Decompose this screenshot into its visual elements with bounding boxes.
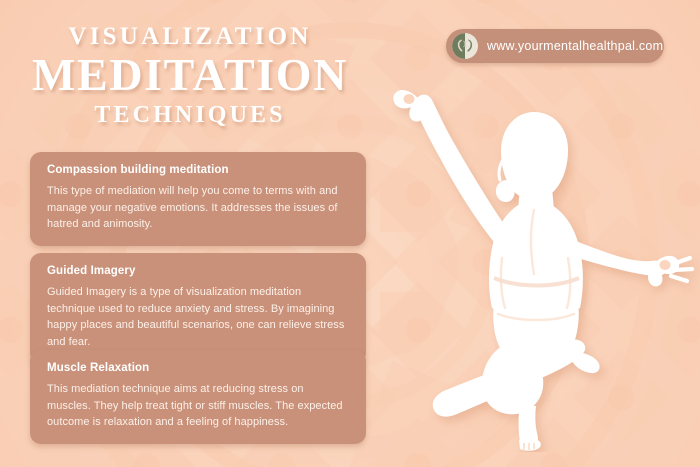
info-card-body: This mediation technique aims at reducin…: [47, 381, 349, 431]
info-card-title: Guided Imagery: [47, 265, 349, 277]
info-card-body: This type of mediation will help you com…: [47, 183, 349, 233]
info-card[interactable]: Guided Imagery Guided Imagery is a type …: [30, 253, 366, 364]
title-line-meditation: MEDITATION: [0, 52, 380, 98]
website-url-label: www.yourmentalhealthpal.com: [487, 39, 663, 53]
info-card-body: Guided Imagery is a type of visualizatio…: [47, 284, 349, 351]
infographic-poster: VISUALIZATION MEDITATION TECHNIQUES www.…: [0, 0, 700, 467]
info-card[interactable]: Compassion building meditation This type…: [30, 152, 366, 246]
info-card-title: Compassion building meditation: [47, 164, 349, 176]
page-title: VISUALIZATION MEDITATION TECHNIQUES: [0, 24, 380, 128]
info-card-title: Muscle Relaxation: [47, 362, 349, 374]
woman-meditating-lotus-pose-silhouette: [368, 52, 700, 452]
info-card[interactable]: Muscle Relaxation This mediation techniq…: [30, 350, 366, 444]
title-line-techniques: TECHNIQUES: [0, 103, 380, 128]
title-line-visualization: VISUALIZATION: [0, 24, 380, 50]
